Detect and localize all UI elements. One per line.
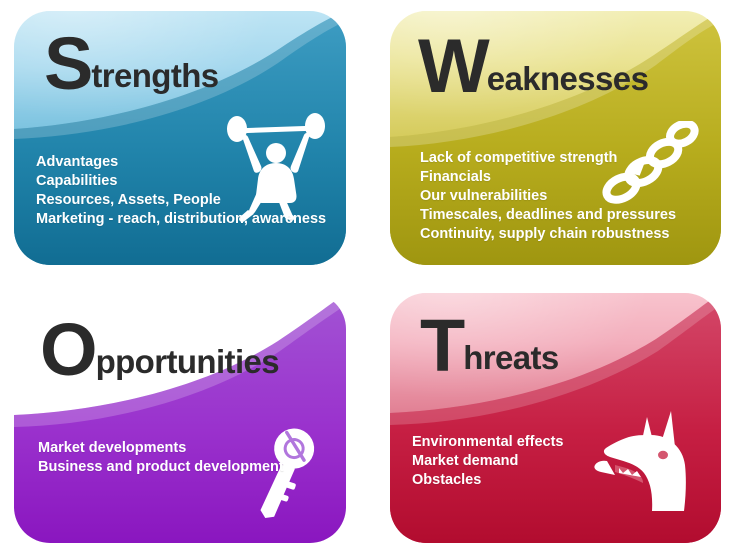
opportunities-card[interactable]: Opportunities Market developments Busine… <box>14 293 346 543</box>
weaknesses-heading-rest: eaknesses <box>487 60 649 97</box>
weaknesses-item-list: Lack of competitive strength Financials … <box>420 149 676 244</box>
list-item: Lack of competitive strength <box>420 149 676 168</box>
list-item: Environmental effects <box>412 433 564 452</box>
swot-matrix: Strengths Advantages Capabilities Resour… <box>0 0 735 556</box>
list-item: Financials <box>420 168 676 187</box>
threats-heading-rest: hreats <box>463 339 558 376</box>
quadrant-weaknesses: Weaknesses Lack of competitive strength … <box>368 0 735 280</box>
quadrant-strengths: Strengths Advantages Capabilities Resour… <box>0 0 368 280</box>
list-item: Resources, Assets, People <box>36 191 326 210</box>
list-item: Marketing - reach, distribution, awarene… <box>36 210 326 229</box>
strengths-heading: Strengths <box>44 27 219 101</box>
weaknesses-initial: W <box>418 24 487 109</box>
strengths-item-list: Advantages Capabilities Resources, Asset… <box>36 153 326 229</box>
strengths-heading-rest: trengths <box>91 57 218 94</box>
opportunities-initial: O <box>40 308 96 391</box>
threats-card[interactable]: Threats Environmental effects Market dem… <box>390 293 721 543</box>
list-item: Capabilities <box>36 172 326 191</box>
weaknesses-card[interactable]: Weaknesses Lack of competitive strength … <box>390 11 721 265</box>
opportunities-item-list: Market developments Business and product… <box>38 439 284 477</box>
threats-item-list: Environmental effects Market demand Obst… <box>412 433 564 490</box>
opportunities-heading: Opportunities <box>40 313 279 387</box>
opportunities-heading-rest: pportunities <box>96 343 279 380</box>
list-item: Market developments <box>38 439 284 458</box>
list-item: Continuity, supply chain robustness <box>420 225 676 244</box>
quadrant-opportunities: Opportunities Market developments Busine… <box>0 280 368 556</box>
list-item: Our vulnerabilities <box>420 187 676 206</box>
threats-initial: T <box>420 304 463 387</box>
list-item: Market demand <box>412 452 564 471</box>
threats-heading: Threats <box>420 309 559 383</box>
list-item: Business and product development <box>38 458 284 477</box>
strengths-initial: S <box>44 22 91 105</box>
quadrant-threats: Threats Environmental effects Market dem… <box>368 280 735 556</box>
strengths-card[interactable]: Strengths Advantages Capabilities Resour… <box>14 11 346 265</box>
list-item: Timescales, deadlines and pressures <box>420 206 676 225</box>
weaknesses-heading: Weaknesses <box>418 29 648 105</box>
list-item: Advantages <box>36 153 326 172</box>
list-item: Obstacles <box>412 471 564 490</box>
